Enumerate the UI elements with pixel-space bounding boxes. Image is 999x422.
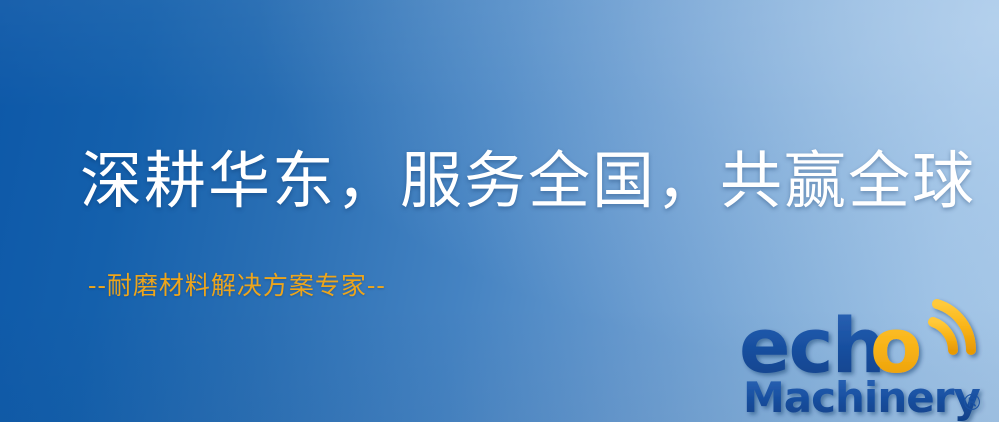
- promo-banner: 深耕华东，服务全国，共赢全球 --耐磨材料解决方案专家--: [0, 0, 999, 422]
- banner-headline: 深耕华东，服务全国，共赢全球: [80, 148, 976, 213]
- logo-subword-machinery: Machinery: [743, 373, 980, 422]
- logo-trademark-symbol: ®: [961, 391, 983, 416]
- banner-subtitle: --耐磨材料解决方案专家--: [88, 266, 386, 302]
- echo-signal-arcs: [933, 304, 971, 350]
- echo-machinery-logo[interactable]: ech o Machinery ®: [737, 294, 999, 422]
